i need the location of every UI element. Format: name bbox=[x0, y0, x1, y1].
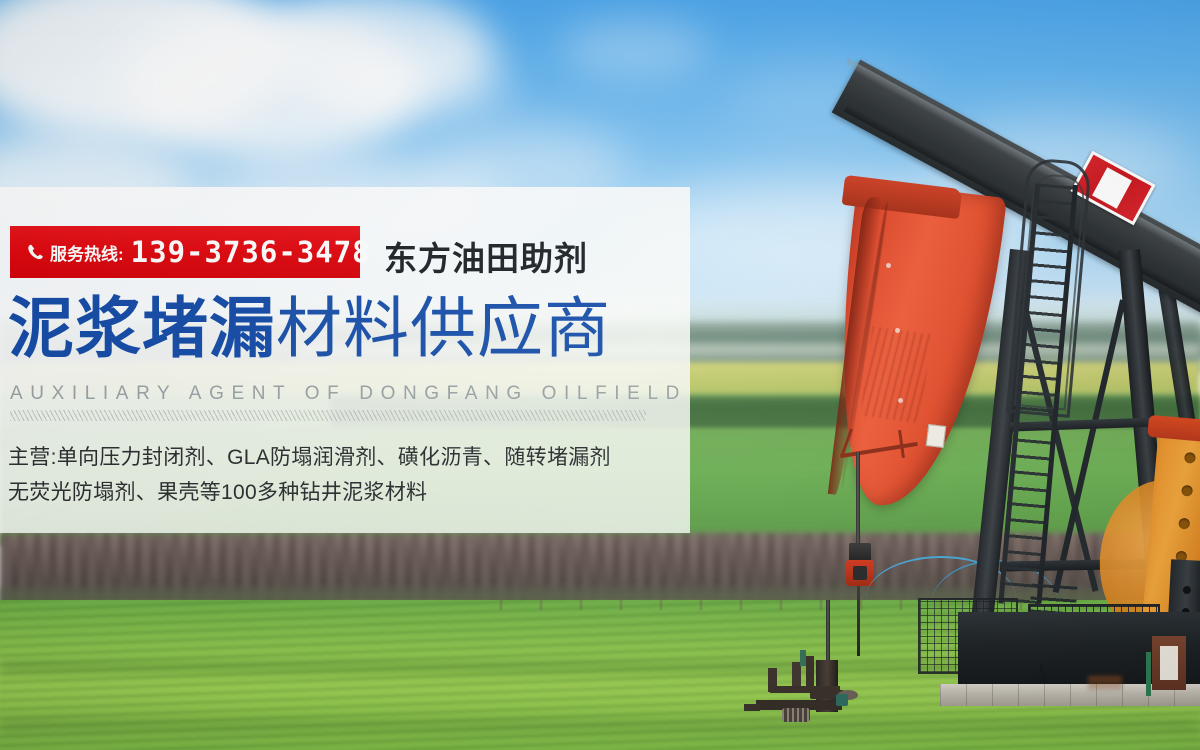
description-line-2: 无荧光防塌剂、果壳等100多种钻井泥浆材料 bbox=[8, 475, 668, 510]
hotline-label: 服务热线: bbox=[50, 240, 124, 265]
rod-clamp-center bbox=[853, 566, 867, 580]
horsehead-bolt bbox=[898, 398, 903, 403]
headline: 泥浆堵漏材料供应商 bbox=[8, 296, 611, 362]
polished-rod-lower bbox=[857, 586, 860, 656]
green-pipe bbox=[1146, 652, 1151, 696]
horsehead-weathering bbox=[860, 326, 932, 423]
english-tagline: AUXILIARY AGENT OF DONGFANG OILFIELD bbox=[10, 383, 687, 405]
horsehead-bolt bbox=[886, 263, 891, 268]
hatch-divider bbox=[10, 410, 646, 421]
banner-stage: WT bbox=[0, 0, 1200, 750]
horsehead-placard bbox=[926, 424, 947, 448]
hotline-number: 139-3736-3478 bbox=[131, 235, 371, 269]
description-line-1: 主营:单向压力封闭剂、GLA防塌润滑剂、磺化沥青、随转堵漏剂 bbox=[8, 440, 668, 475]
service-hotline-bar[interactable]: 服务热线: 139-3736-3478 bbox=[10, 226, 360, 278]
pad-rust-stain bbox=[1088, 676, 1122, 690]
wellhead-stub bbox=[744, 704, 760, 711]
product-description: 主营:单向压力封闭剂、GLA防塌润滑剂、磺化沥青、随转堵漏剂 无荧光防塌剂、果壳… bbox=[8, 440, 668, 511]
wellhead-coil bbox=[782, 708, 810, 722]
wellhead-fitting bbox=[836, 694, 848, 706]
headline-rest: 材料供应商 bbox=[276, 290, 611, 367]
phone-icon bbox=[26, 243, 45, 262]
control-box-placard bbox=[1160, 646, 1178, 680]
horsehead-bolt bbox=[895, 328, 900, 333]
headline-emphasis: 泥浆堵漏 bbox=[8, 290, 276, 367]
brand-name: 东方油田助剂 bbox=[384, 232, 588, 280]
